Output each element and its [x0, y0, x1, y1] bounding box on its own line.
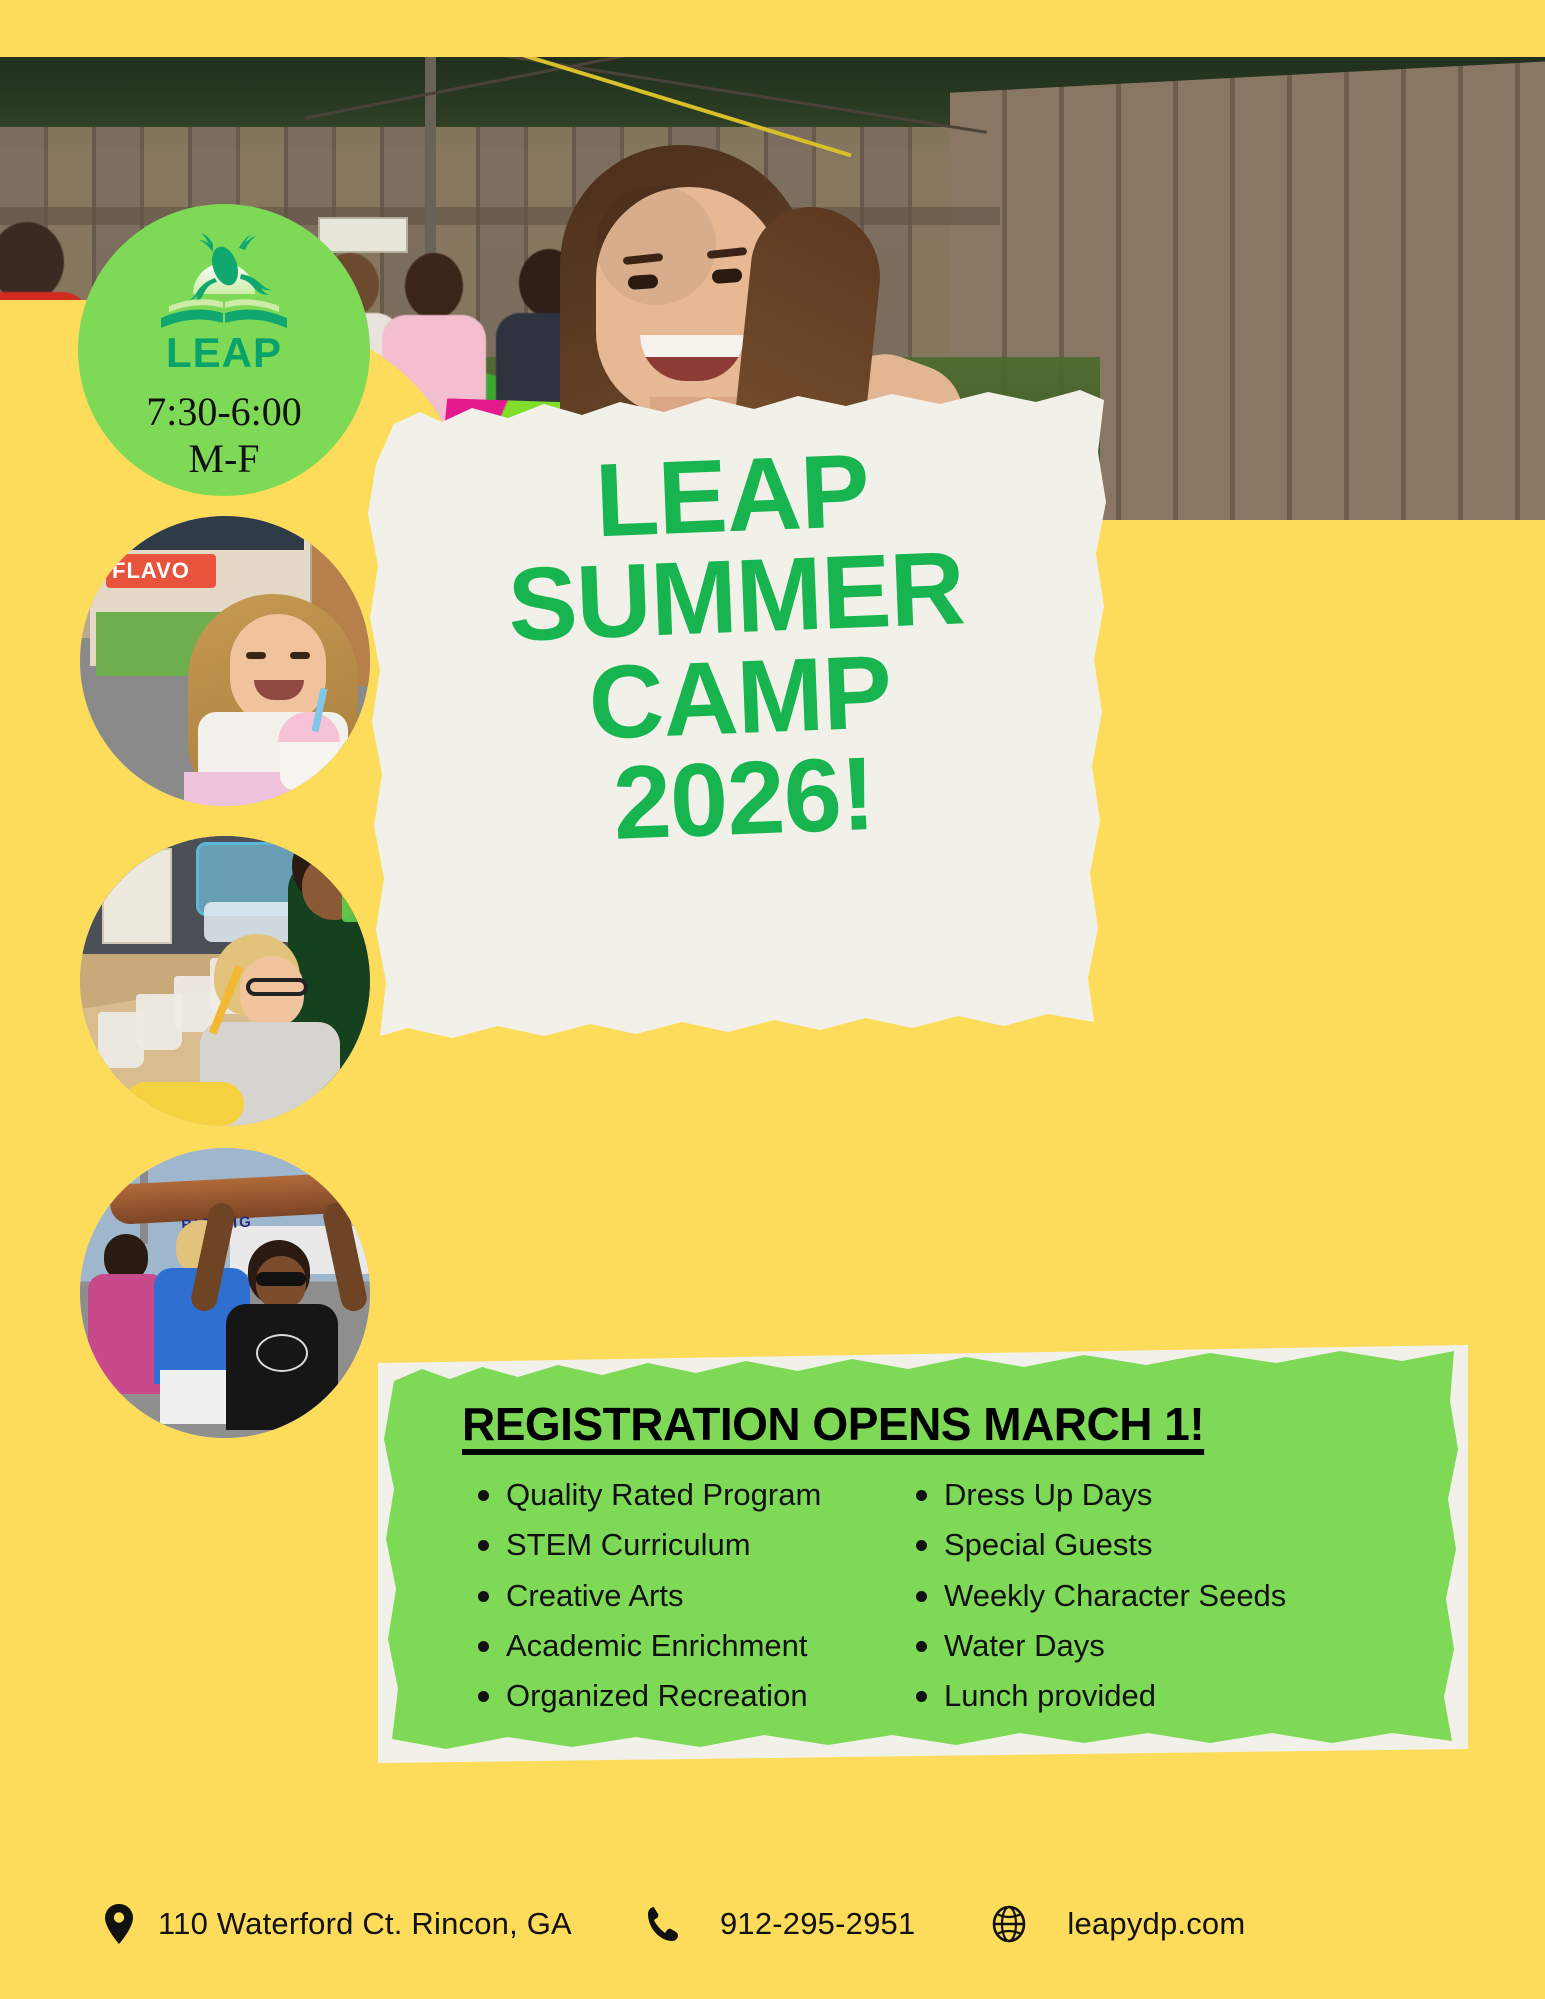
address-text: 110 Waterford Ct. Rincon, GA	[158, 1906, 572, 1942]
footer-contact-bar: 110 Waterford Ct. Rincon, GA 912-295-295…	[0, 1849, 1545, 1999]
list-item: Academic Enrichment	[472, 1628, 892, 1663]
footer-phone: 912-295-2951	[646, 1905, 915, 1943]
logo-wordmark: LEAP	[166, 332, 282, 374]
leap-shirt-logo-icon	[342, 888, 370, 922]
girl-eye	[628, 274, 659, 290]
list-item: Special Guests	[910, 1527, 1340, 1562]
photo-kids-outside: BIG RIG	[80, 1148, 370, 1438]
girl-eye	[290, 652, 310, 659]
child-silhouette	[405, 253, 463, 319]
list-item: Water Days	[910, 1628, 1340, 1663]
boy-sunglasses	[256, 1272, 306, 1286]
girl-face	[230, 614, 326, 726]
list-item: STEM Curriculum	[472, 1527, 892, 1562]
feature-list-right: Dress Up Days Special Guests Weekly Char…	[910, 1477, 1340, 1729]
headline-text: LEAP SUMMER CAMP 2026!	[361, 432, 1116, 864]
list-item: Weekly Character Seeds	[910, 1578, 1340, 1613]
photo-stem-activity	[80, 836, 370, 1126]
registration-banner: REGISTRATION OPENS MARCH 1! Quality Rate…	[378, 1345, 1468, 1763]
feature-columns: Quality Rated Program STEM Curriculum Cr…	[430, 1477, 1428, 1729]
location-pin-icon	[104, 1904, 134, 1944]
photo-snow-cone-girl: FLAVO	[80, 516, 370, 806]
girl-eye	[712, 268, 743, 284]
camp-hours: 7:30-6:00	[146, 388, 302, 435]
top-yellow-band	[0, 0, 1545, 57]
flavor-sign-text: FLAVO	[106, 558, 190, 583]
list-item: Creative Arts	[472, 1578, 892, 1613]
registration-content: REGISTRATION OPENS MARCH 1! Quality Rate…	[378, 1345, 1468, 1763]
headline-paper: LEAP SUMMER CAMP 2026!	[368, 382, 1108, 1052]
list-item: Quality Rated Program	[472, 1477, 892, 1512]
flavor-sign: FLAVO	[106, 554, 216, 588]
phone-icon	[646, 1905, 680, 1943]
boy-glasses	[246, 978, 308, 996]
list-item: Lunch provided	[910, 1678, 1340, 1713]
stand-awning	[94, 516, 304, 550]
feature-list-left: Quality Rated Program STEM Curriculum Cr…	[472, 1477, 892, 1729]
tshirt-logo-icon	[256, 1334, 308, 1372]
footer-address: 110 Waterford Ct. Rincon, GA	[104, 1904, 572, 1944]
frog-over-book-logo-icon	[151, 230, 297, 338]
list-item: Organized Recreation	[472, 1678, 892, 1713]
yarn-pile	[124, 1082, 244, 1126]
girl-skirt	[184, 772, 370, 806]
footer-website: leapydp.com	[991, 1905, 1245, 1943]
list-item: Dress Up Days	[910, 1477, 1340, 1512]
website-text: leapydp.com	[1067, 1906, 1245, 1942]
globe-icon	[991, 1905, 1027, 1943]
phone-text: 912-295-2951	[720, 1906, 915, 1942]
wall-poster	[102, 848, 172, 944]
camp-days: M-F	[188, 435, 259, 482]
girl-eye	[246, 652, 266, 659]
background-sign	[318, 217, 408, 253]
girl-teeth	[640, 335, 744, 357]
logo-badge: LEAP 7:30-6:00 M-F	[78, 204, 370, 496]
registration-title: REGISTRATION OPENS MARCH 1!	[462, 1397, 1428, 1451]
girl-face-shade	[596, 185, 716, 305]
